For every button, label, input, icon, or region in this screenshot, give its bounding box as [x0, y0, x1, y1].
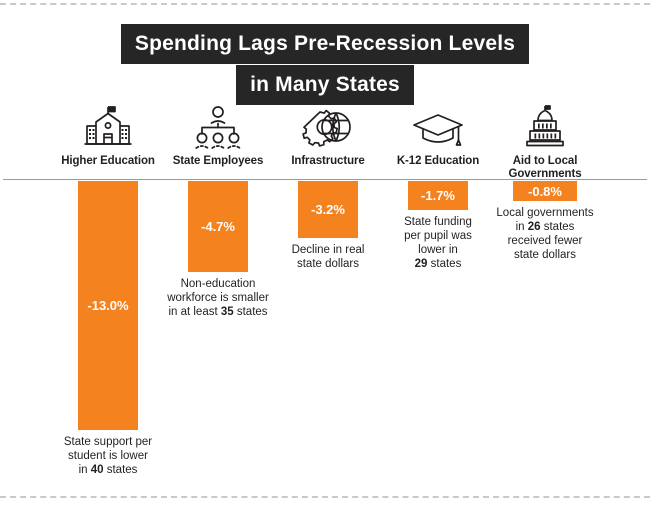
category-header-aid-to-local-governments: Aid to LocalGovernments: [472, 104, 618, 181]
capitol-dome-icon: [472, 104, 618, 150]
bar-value-label: -13.0%: [87, 298, 128, 313]
bar-caption: Non-educationworkforce is smallerin at l…: [150, 277, 286, 319]
bar[interactable]: -1.7%: [408, 181, 468, 210]
bar-value-label: -0.8%: [528, 184, 562, 199]
title-line-2: in Many States: [236, 65, 414, 105]
bar-value-label: -4.7%: [201, 219, 235, 234]
dashed-cut-line-bottom: [0, 496, 650, 498]
title-line-1: Spending Lags Pre-Recession Levels: [121, 24, 529, 64]
infographic-sheet: Spending Lags Pre-Recession Levels in Ma…: [0, 0, 650, 506]
bar-value-label: -3.2%: [311, 202, 345, 217]
bar[interactable]: -0.8%: [513, 181, 577, 201]
dashed-cut-line-top: [0, 3, 650, 5]
zero-axis-line: [3, 179, 647, 180]
bar[interactable]: -3.2%: [298, 181, 358, 238]
category-label: Aid to LocalGovernments: [472, 155, 618, 181]
bar[interactable]: -4.7%: [188, 181, 248, 272]
bar-caption: Local governmentsin 26 statesreceived fe…: [472, 206, 618, 262]
chart-title: Spending Lags Pre-Recession Levels in Ma…: [0, 24, 650, 105]
bar[interactable]: -13.0%: [78, 181, 138, 430]
bar-value-label: -1.7%: [421, 188, 455, 203]
bar-group-aid-to-local-governments: -0.8% Local governmentsin 26 statesrecei…: [472, 181, 618, 262]
bar-caption: State support perstudent is lowerin 40 s…: [40, 435, 176, 477]
